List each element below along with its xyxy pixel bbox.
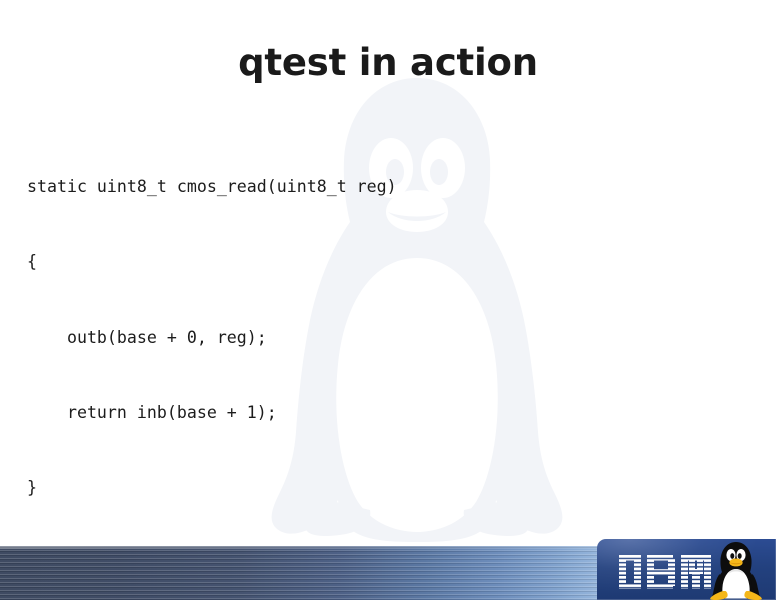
ibm-logo-icon [619, 555, 711, 589]
slide-footer [0, 528, 776, 600]
page-title: qtest in action [0, 44, 776, 81]
code-line: static uint8_t cmos_read(uint8_t reg) [27, 174, 747, 199]
footer-gradient-bar [0, 546, 608, 600]
code-line: } [27, 475, 747, 500]
footer-logo-panel [597, 539, 776, 600]
code-line: { [27, 249, 747, 274]
slide: qtest in action static uint8_t cmos_read… [0, 0, 776, 600]
code-line: outb(base + 0, reg); [27, 325, 747, 350]
code-line: return inb(base + 1); [27, 400, 747, 425]
tux-penguin-icon [705, 539, 767, 600]
